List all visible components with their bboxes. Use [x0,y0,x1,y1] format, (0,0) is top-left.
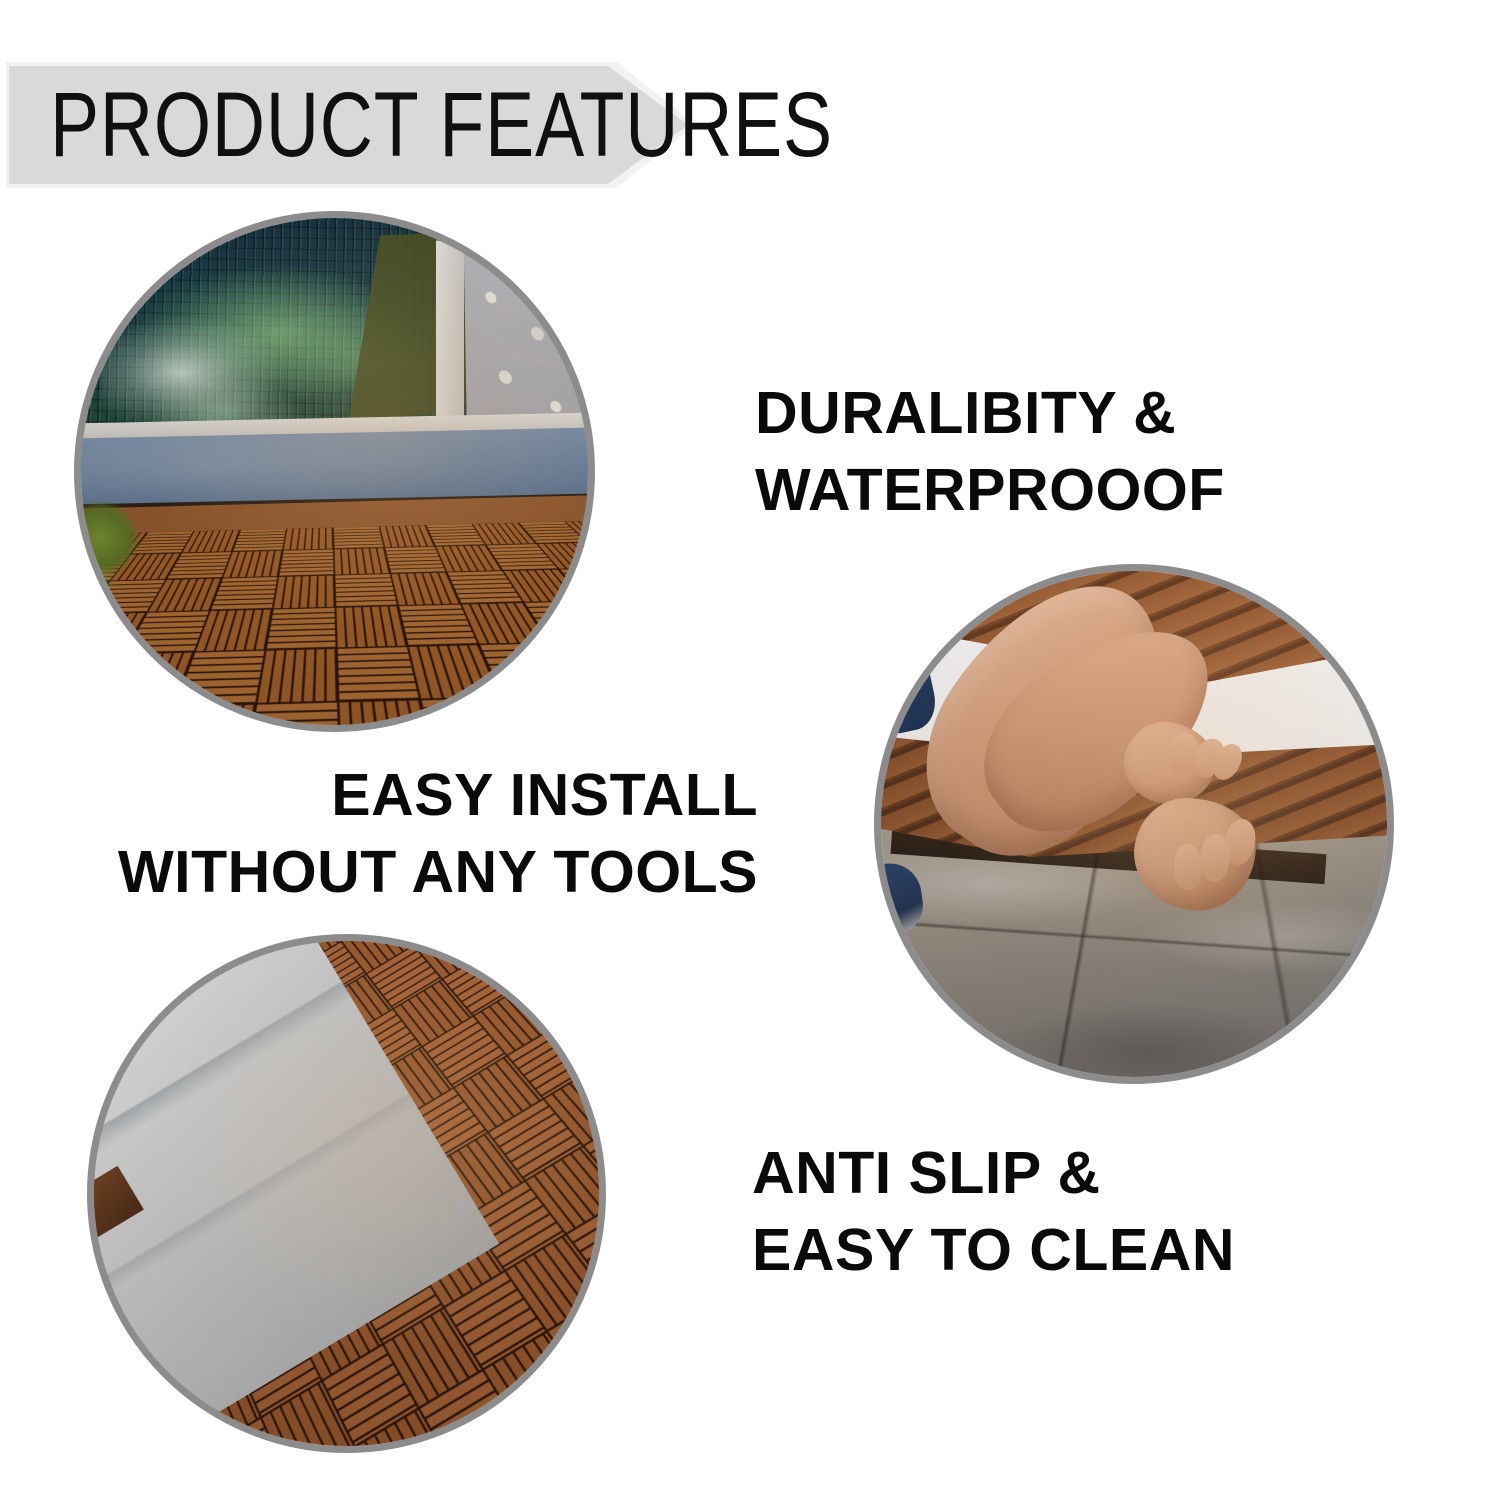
feature-label-line: ANTI SLIP & [752,1135,1235,1212]
feature-label-line: WATERPROOOF [755,452,1225,529]
product-features-banner: PRODUCT FEATURES [6,62,696,188]
install-hands-photo-content [881,571,1387,1077]
feature-label-line: DURALIBITY & [755,375,1225,452]
door-deck-photo [87,934,606,1453]
page-title: PRODUCT FEATURES [50,79,833,171]
feature-label-anti-slip: ANTI SLIP & EASY TO CLEAN [752,1135,1235,1288]
door-deck-photo-content [94,941,599,1446]
deck-side-greenery [81,502,152,593]
deck-tile-pattern [81,515,588,725]
feature-label-line: EASY TO CLEAN [752,1212,1235,1289]
pool-deck-tiles [81,493,588,725]
feature-label-durability-waterproof: DURALIBITY & WATERPROOOF [755,375,1225,528]
feature-label-line: WITHOUT ANY TOOLS [118,834,758,911]
install-hands-photo [874,564,1394,1084]
feature-label-easy-install: EASY INSTALL WITHOUT ANY TOOLS [118,757,758,910]
pool-deck-photo-content [81,218,588,725]
pool-deck-photo [74,211,595,732]
jeans-knee [881,635,940,739]
feature-label-line: EASY INSTALL [118,757,758,834]
